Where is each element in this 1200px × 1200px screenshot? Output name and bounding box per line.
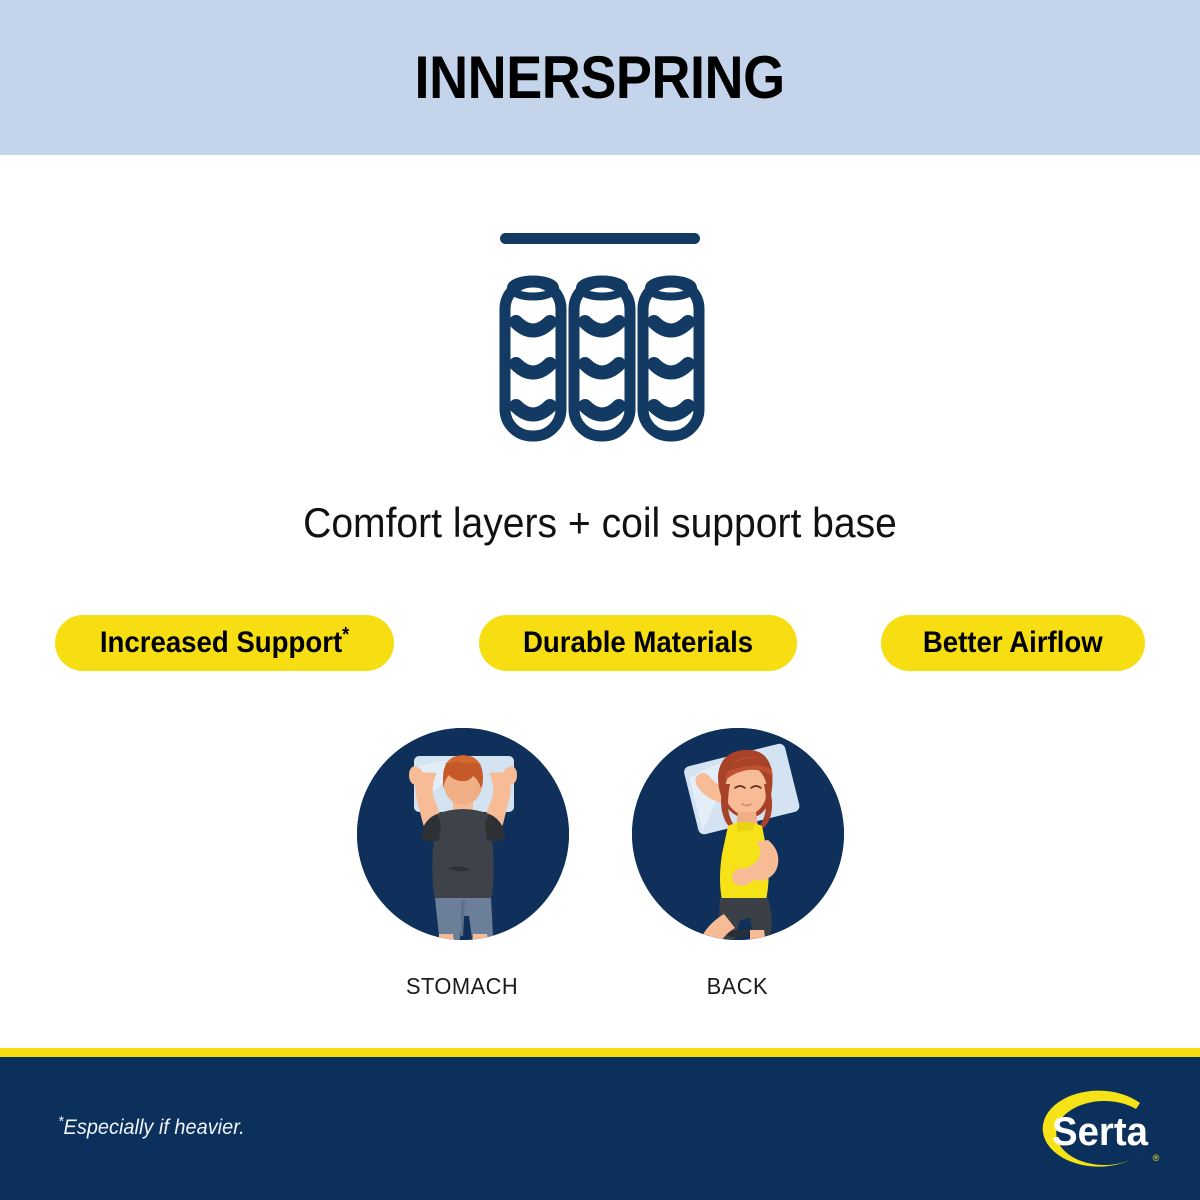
sleep-position-label: BACK [707,975,768,998]
page-title: INNERSPRING [415,48,785,108]
benefit-pill-label: Durable Materials [523,628,753,658]
innerspring-infographic: INNERSPRING [0,0,1200,1200]
benefit-pill-durable-materials[interactable]: Durable Materials [479,615,797,671]
registered-mark: ® [1153,1153,1160,1163]
header-banner: INNERSPRING [0,0,1200,155]
footer-accent-stripe [0,1048,1200,1057]
back-sleeper-illustration [632,728,844,940]
benefit-pill-label: Increased Support* [100,628,350,658]
footnote-marker: * [342,624,349,646]
benefit-pill-increased-support[interactable]: Increased Support* [55,615,394,671]
benefit-pill-label: Better Airflow [923,628,1103,658]
coil-stack-icon [470,225,730,450]
stomach-sleeper-illustration [357,728,569,940]
serta-wordmark: Serta [1052,1110,1149,1154]
footnote-text: *Especially if heavier. [58,1117,245,1138]
benefit-pill-better-airflow[interactable]: Better Airflow [881,615,1145,671]
sleep-position-stomach[interactable]: STOMACH [345,728,580,998]
serta-logo[interactable]: Serta ® [1032,1085,1172,1181]
benefit-pill-row: Increased Support* Durable Materials Bet… [55,615,1145,671]
subhead-text: Comfort layers + coil support base [42,498,1158,548]
sleep-position-group: STOMACH [0,728,1200,998]
sleep-position-back[interactable]: BACK [620,728,855,998]
sleep-position-label: STOMACH [406,975,518,998]
